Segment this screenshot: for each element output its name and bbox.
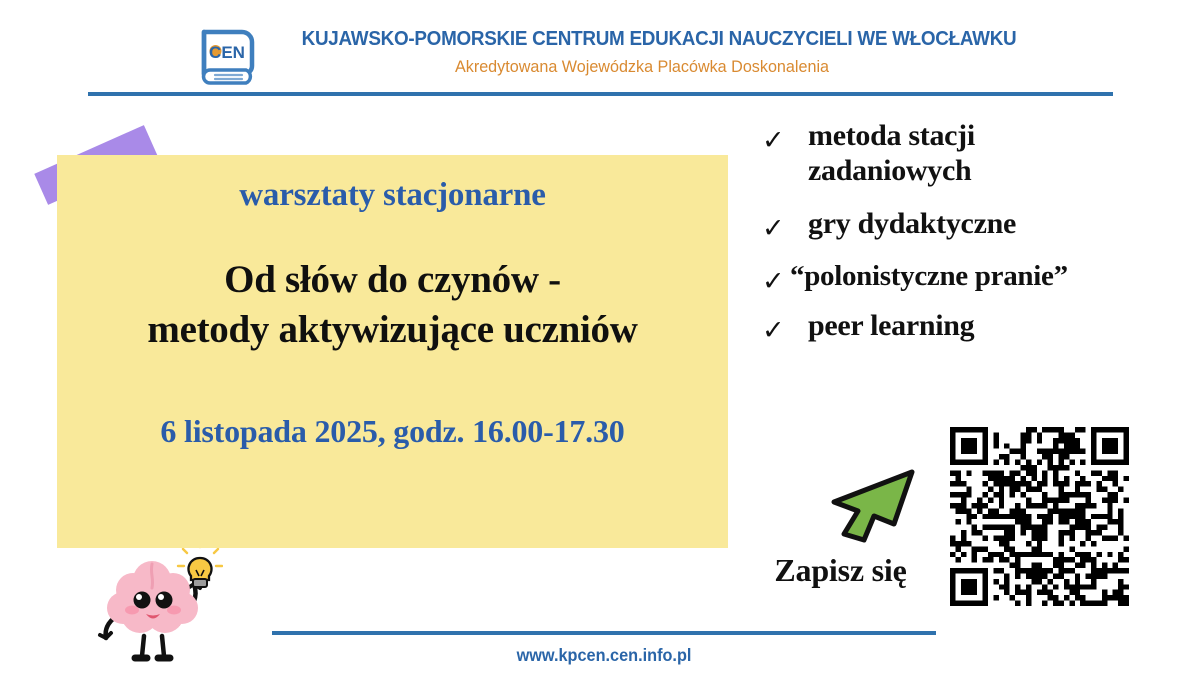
footer-website-url[interactable]: www.kpcen.cen.info.pl (295, 645, 913, 666)
checklist-item-label: “polonistyczne pranie” (790, 259, 1068, 293)
qr-code-image[interactable] (950, 427, 1129, 606)
event-datetime: 6 listopada 2025, godz. 16.00-17.30 (57, 413, 728, 450)
organization-title: KUJAWSKO-POMORSKIE CENTRUM EDUKACJI NAUC… (302, 28, 983, 51)
registration-qr-code[interactable] (950, 427, 1129, 606)
checklist-item: ✓ “polonistyczne pranie” (762, 259, 1192, 295)
header-divider (88, 92, 1113, 96)
green-arrow-icon (818, 466, 916, 544)
checklist-item-label-line-2: zadaniowych (808, 154, 971, 187)
checklist-item-label-line-1: metoda stacji (808, 119, 975, 152)
event-title: Od słów do czynów - metody aktywizujące … (57, 255, 728, 355)
page-header: CEN KUJAWSKO-POMORSKIE CENTRUM EDUKACJI … (0, 0, 1200, 100)
poster-canvas: CEN KUJAWSKO-POMORSKIE CENTRUM EDUKACJI … (0, 0, 1200, 675)
checklist-item-label: gry dydaktyczne (808, 206, 1016, 241)
check-icon: ✓ (762, 259, 790, 295)
checklist-item: ✓ gry dydaktyczne (762, 206, 1192, 242)
cen-logo-text: CEN (209, 43, 245, 62)
brain-mascot-illustration (88, 548, 223, 670)
checklist-item: ✓ metoda stacji zadaniowych (762, 118, 1192, 189)
organization-subtitle: Akredytowana Wojewódzka Placówka Doskona… (291, 58, 994, 77)
cen-logo-icon: CEN (198, 26, 260, 88)
header-text-block: KUJAWSKO-POMORSKIE CENTRUM EDUKACJI NAUC… (272, 28, 1012, 76)
event-title-line-2: metody aktywizujące uczniów (57, 305, 728, 355)
check-icon: ✓ (762, 308, 808, 344)
signup-cta-label[interactable]: Zapisz się (748, 552, 933, 589)
event-card: warsztaty stacjonarne Od słów do czynów … (57, 155, 728, 548)
event-format-label: warsztaty stacjonarne (57, 177, 728, 214)
checklist-item-label: metoda stacji zadaniowych (808, 118, 975, 189)
topics-checklist: ✓ metoda stacji zadaniowych ✓ gry dydakt… (762, 118, 1192, 361)
checklist-item: ✓ peer learning (762, 308, 1192, 344)
event-title-line-1: Od słów do czynów - (57, 255, 728, 305)
check-icon: ✓ (762, 206, 808, 242)
check-icon: ✓ (762, 118, 808, 154)
footer-divider (272, 631, 936, 635)
checklist-item-label: peer learning (808, 308, 974, 343)
